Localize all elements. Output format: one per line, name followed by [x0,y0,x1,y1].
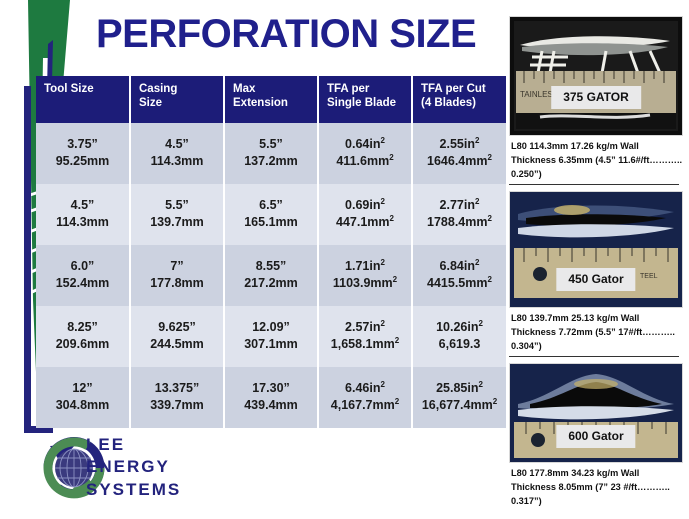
value-mm: 209.6mm [38,336,127,353]
header-line-2: (4 Blades) [421,96,499,110]
logo-line-lee: LEE [86,434,181,456]
table-row: 6.0” 152.4mm 7” 177.8mm 8.55” 217.2mm 1.… [36,245,506,306]
value-mm2: 4,167.7mm2 [321,397,409,414]
value-mm: 137.2mm [227,153,315,170]
superscript-2: 2 [380,380,384,389]
value-in2: 25.85in2 [415,380,504,397]
value-mm: 307.1mm [227,336,315,353]
perforation-size-table-container: Tool Size Casing Size Max Extension TFA … [36,76,506,428]
header-line-1: TFA per [327,82,404,96]
caption-divider [509,356,679,357]
value-number: 10.26in [436,320,478,334]
value-mm2: 16,677.4mm2 [415,397,504,414]
value-inches: 6.5” [227,197,315,214]
cell-tfa-per-cut: 6.84in2 4415.5mm2 [412,245,506,306]
value-number: 6.46in [345,381,380,395]
photo-column: TAINLES 375 GATOR L80 114.3mm 17.26 kg/m… [509,16,681,515]
table-row: 12” 304.8mm 13.375” 339.7mm 17.30” 439.4… [36,367,506,428]
superscript-2: 2 [390,214,394,223]
photo-block-450-gator: TEEL 450 Gator L80 139.7mm 25.13 kg/m Wa… [509,191,681,357]
photo-badge-375-gator: 375 GATOR [551,86,641,109]
value-inches: 4.5” [38,197,127,214]
value-in2: 2.57in2 [321,319,409,336]
value-number: 4415.5mm [427,276,487,290]
value-in2: 10.26in2 [415,319,504,336]
svg-text:TAINLES: TAINLES [520,90,553,99]
value-inches: 5.5” [133,197,221,214]
value-inches: 12.09” [227,319,315,336]
cell-tfa-per-cut: 25.85in2 16,677.4mm2 [412,367,506,428]
value-in2: 0.69in2 [321,197,409,214]
superscript-2: 2 [395,336,399,345]
value-mm: 244.5mm [133,336,221,353]
cell-tfa-single-blade: 2.57in2 1,658.1mm2 [318,306,412,367]
superscript-2: 2 [380,197,384,206]
cell-casing-size: 9.625” 244.5mm [130,306,224,367]
value-mm: 339.7mm [133,397,221,414]
superscript-2: 2 [393,275,397,284]
value-number: 2.77in [440,198,475,212]
value-number: 1,658.1mm [331,337,395,351]
cell-tool-size: 12” 304.8mm [36,367,130,428]
value-inches: 4.5” [133,136,221,153]
superscript-2: 2 [380,136,384,145]
header-line-2: Single Blade [327,96,404,110]
value-inches: 8.25” [38,319,127,336]
value-mm2: 447.1mm2 [321,214,409,231]
photo-caption-600-gator: L80 177.8mm 34.23 kg/m Wall Thickness 8.… [511,467,683,509]
value-number: 4,167.7mm [331,398,395,412]
value-number: 6,619.3 [439,337,481,351]
perforation-size-table: Tool Size Casing Size Max Extension TFA … [36,76,506,428]
column-header-max-extension: Max Extension [224,76,318,123]
column-header-tool-size: Tool Size [36,76,130,123]
superscript-2: 2 [395,397,399,406]
cell-tool-size: 6.0” 152.4mm [36,245,130,306]
superscript-2: 2 [478,380,482,389]
photo-badge-450-gator: 450 Gator [556,268,635,291]
header-line-1: Casing [139,82,216,96]
cell-tfa-single-blade: 0.69in2 447.1mm2 [318,184,412,245]
value-mm: 304.8mm [38,397,127,414]
value-number: 1646.4mm [427,154,487,168]
company-logo-text: LEE ENERGY SYSTEMS [86,434,181,501]
cell-tfa-per-cut: 10.26in2 6,619.3 [412,306,506,367]
cell-max-extension: 8.55” 217.2mm [224,245,318,306]
header-line-2: Extension [233,96,310,110]
cell-tool-size: 3.75” 95.25mm [36,123,130,184]
superscript-2: 2 [488,153,492,162]
superscript-2: 2 [380,319,384,328]
caption-divider [509,184,679,185]
value-in2: 6.46in2 [321,380,409,397]
superscript-2: 2 [478,319,482,328]
value-inches: 3.75” [38,136,127,153]
superscript-2: 2 [475,258,479,267]
value-mm2: 411.6mm2 [321,153,409,170]
value-inches: 13.375” [133,380,221,397]
superscript-2: 2 [389,153,393,162]
header-line-1: TFA per Cut [421,82,499,96]
logo-line-energy: ENERGY [86,456,181,478]
photo-375-gator-image: TAINLES [510,17,682,135]
svg-text:TEEL: TEEL [640,273,658,280]
cell-tfa-single-blade: 1.71in2 1103.9mm2 [318,245,412,306]
superscript-2: 2 [488,214,492,223]
value-in2: 0.64in2 [321,136,409,153]
value-inches: 9.625” [133,319,221,336]
value-mm: 152.4mm [38,275,127,292]
photo-375-gator: TAINLES 375 GATOR [509,16,683,136]
header-line-2: Size [139,96,216,110]
value-in2: 2.55in2 [415,136,504,153]
superscript-2: 2 [380,258,384,267]
cell-tfa-single-blade: 0.64in2 411.6mm2 [318,123,412,184]
table-row: 3.75” 95.25mm 4.5” 114.3mm 5.5” 137.2mm … [36,123,506,184]
value-mm2: 4415.5mm2 [415,275,504,292]
cell-casing-size: 4.5” 114.3mm [130,123,224,184]
superscript-2: 2 [488,275,492,284]
photo-caption-375-gator: L80 114.3mm 17.26 kg/m Wall Thickness 6.… [511,140,683,182]
value-number: 1.71in [345,259,380,273]
cell-tool-size: 4.5” 114.3mm [36,184,130,245]
cell-tool-size: 8.25” 209.6mm [36,306,130,367]
photo-caption-450-gator: L80 139.7mm 25.13 kg/m Wall Thickness 7.… [511,312,683,354]
value-mm: 95.25mm [38,153,127,170]
value-mm: 217.2mm [227,275,315,292]
cell-casing-size: 5.5” 139.7mm [130,184,224,245]
cell-max-extension: 12.09” 307.1mm [224,306,318,367]
table-row: 8.25” 209.6mm 9.625” 244.5mm 12.09” 307.… [36,306,506,367]
photo-600-gator: 600 Gator [509,363,683,463]
cell-casing-size: 13.375” 339.7mm [130,367,224,428]
value-mm: 439.4mm [227,397,315,414]
column-header-tfa-per-cut: TFA per Cut (4 Blades) [412,76,506,123]
table-body: 3.75” 95.25mm 4.5” 114.3mm 5.5” 137.2mm … [36,123,506,428]
value-number: 1788.4mm [427,215,487,229]
header-line-1: Max [233,82,310,96]
superscript-2: 2 [475,197,479,206]
value-mm2: 1103.9mm2 [321,275,409,292]
cell-tfa-per-cut: 2.77in2 1788.4mm2 [412,184,506,245]
value-inches: 12” [38,380,127,397]
value-number: 25.85in [436,381,478,395]
value-mm2: 1788.4mm2 [415,214,504,231]
header-line-1: Tool Size [44,82,122,96]
value-number: 6.84in [440,259,475,273]
photo-badge-600-gator: 600 Gator [556,425,635,448]
table-header-row: Tool Size Casing Size Max Extension TFA … [36,76,506,123]
cell-tfa-single-blade: 6.46in2 4,167.7mm2 [318,367,412,428]
value-mm: 114.3mm [133,153,221,170]
value-number: 411.6mm [336,154,389,168]
value-mm: 165.1mm [227,214,315,231]
value-inches: 17.30” [227,380,315,397]
photo-450-gator: TEEL 450 Gator [509,191,683,308]
value-number: 1103.9mm [333,276,393,290]
column-header-tfa-single-blade: TFA per Single Blade [318,76,412,123]
value-mm2: 1646.4mm2 [415,153,504,170]
cell-casing-size: 7” 177.8mm [130,245,224,306]
page-title: PERFORATION SIZE [96,14,476,54]
value-inches: 5.5” [227,136,315,153]
table-row: 4.5” 114.3mm 5.5” 139.7mm 6.5” 165.1mm 0… [36,184,506,245]
value-number: 2.55in [440,137,475,151]
value-number: 0.69in [345,198,380,212]
value-mm: 139.7mm [133,214,221,231]
column-header-casing-size: Casing Size [130,76,224,123]
cell-tfa-per-cut: 2.55in2 1646.4mm2 [412,123,506,184]
value-number: 16,677.4mm [422,398,493,412]
value-inches: 7” [133,258,221,275]
cell-max-extension: 17.30” 439.4mm [224,367,318,428]
superscript-2: 2 [475,136,479,145]
value-number: 0.64in [345,137,380,151]
value-inches: 6.0” [38,258,127,275]
superscript-2: 2 [493,397,497,406]
value-in2: 2.77in2 [415,197,504,214]
value-number: 447.1mm [336,215,390,229]
photo-block-600-gator: 600 Gator L80 177.8mm 34.23 kg/m Wall Th… [509,363,681,509]
value-in2: 6.84in2 [415,258,504,275]
value-in2: 1.71in2 [321,258,409,275]
value-mm: 177.8mm [133,275,221,292]
value-mm: 114.3mm [38,214,127,231]
slide-root: PERFORATION SIZE Tool Size Casing Size M… [0,0,689,519]
value-number: 2.57in [345,320,380,334]
logo-line-systems: SYSTEMS [86,479,181,501]
cell-max-extension: 5.5” 137.2mm [224,123,318,184]
photo-block-375-gator: TAINLES 375 GATOR L80 114.3mm 17.26 kg/m… [509,16,681,185]
value-inches: 8.55” [227,258,315,275]
value-mm2: 6,619.3 [415,336,504,353]
value-mm2: 1,658.1mm2 [321,336,409,353]
cell-max-extension: 6.5” 165.1mm [224,184,318,245]
